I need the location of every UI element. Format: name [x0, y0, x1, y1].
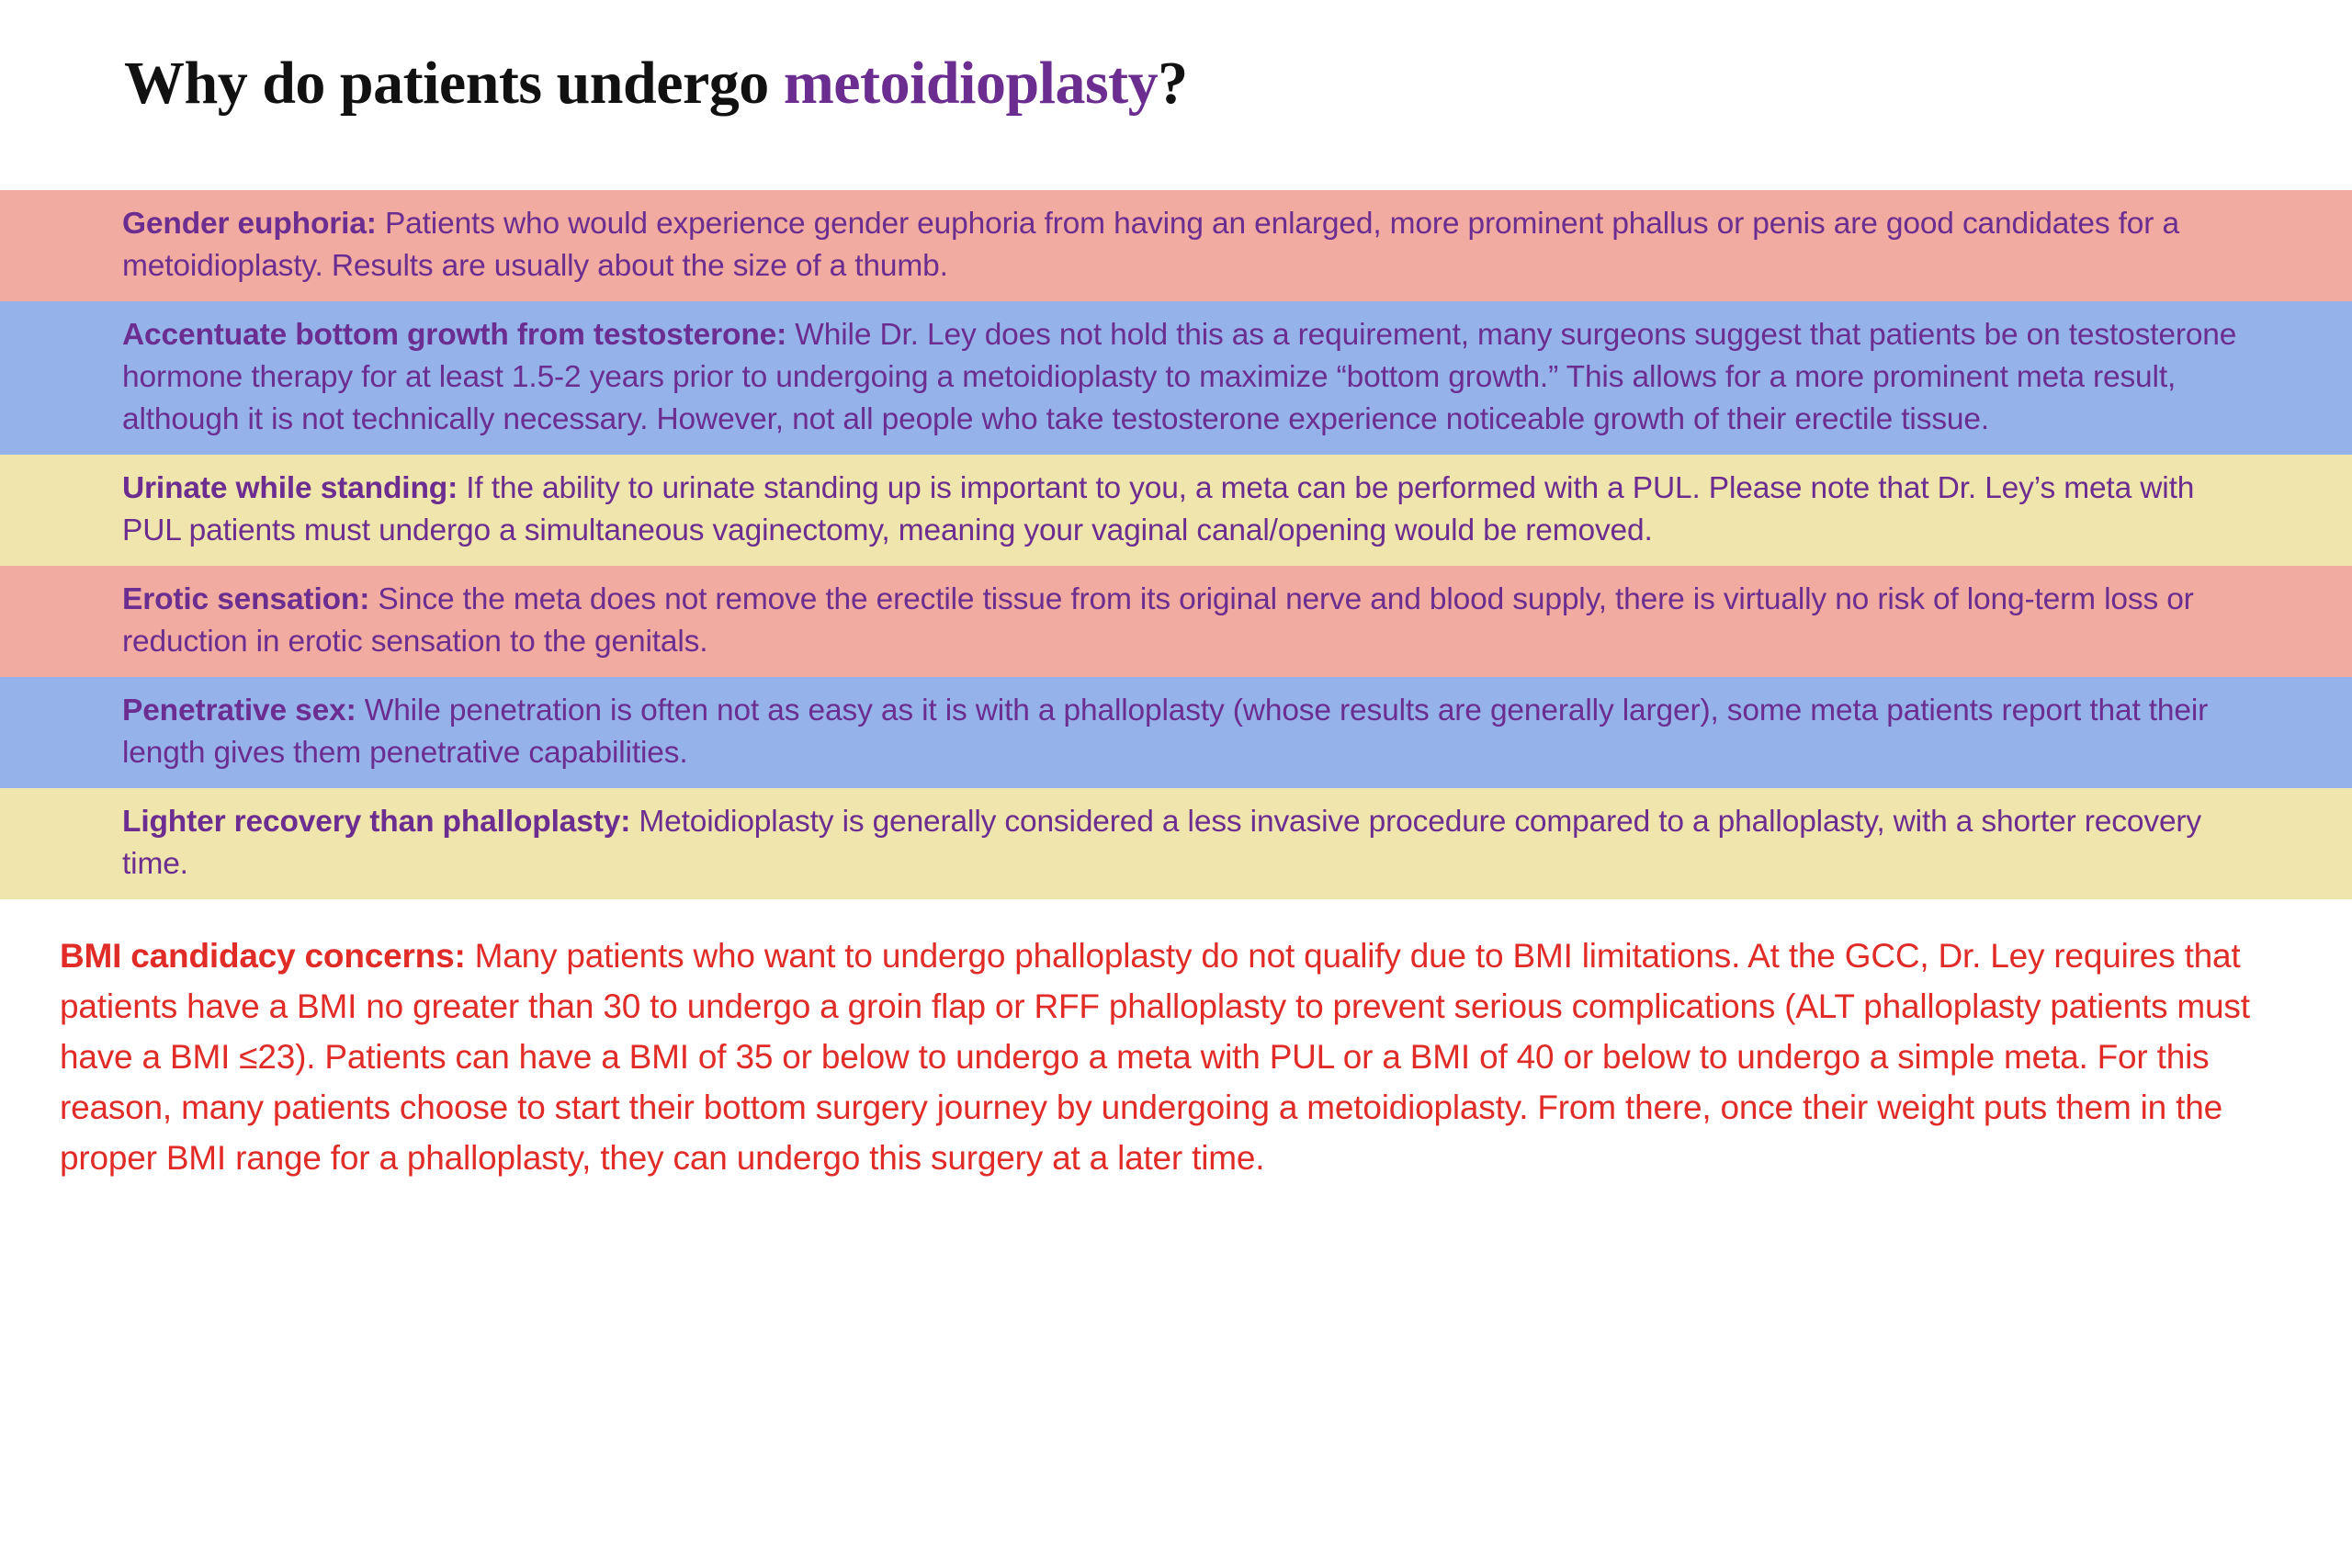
reason-band-bottom-growth: Accentuate bottom growth from testostero…: [0, 301, 2352, 455]
page-title-before: Why do patients undergo: [124, 50, 784, 117]
bmi-candidacy-note: BMI candidacy concerns: Many patients wh…: [0, 899, 2352, 1183]
reason-lead: Urinate while standing:: [122, 471, 458, 505]
reason-lead: Lighter recovery than phalloplasty:: [122, 805, 630, 839]
reason-lead: Gender euphoria:: [122, 207, 377, 241]
page-title-after: ?: [1158, 50, 1188, 117]
page-title: Why do patients undergo metoidioplasty?: [124, 53, 2352, 114]
reason-lead: Penetrative sex:: [122, 694, 356, 728]
reason-band-penetrative-sex: Penetrative sex: While penetration is of…: [0, 677, 2352, 788]
title-section: Why do patients undergo metoidioplasty?: [0, 0, 2352, 190]
reason-text: Erotic sensation: Since the meta does no…: [122, 579, 2249, 663]
reason-band-lighter-recovery: Lighter recovery than phalloplasty: Meto…: [0, 788, 2352, 899]
reason-band-erotic-sensation: Erotic sensation: Since the meta does no…: [0, 566, 2352, 677]
reason-lead: Accentuate bottom growth from testostero…: [122, 318, 786, 352]
reason-body: Patients who would experience gender eup…: [122, 207, 2179, 283]
reason-text: Accentuate bottom growth from testostero…: [122, 314, 2249, 441]
reason-band-gender-euphoria: Gender euphoria: Patients who would expe…: [0, 190, 2352, 301]
reason-bands: Gender euphoria: Patients who would expe…: [0, 190, 2352, 899]
page-title-accent: metoidioplasty: [784, 50, 1158, 117]
reason-band-urinate-standing: Urinate while standing: If the ability t…: [0, 455, 2352, 566]
reason-body: While penetration is often not as easy a…: [122, 694, 2208, 770]
bmi-note-text: BMI candidacy concerns: Many patients wh…: [60, 931, 2269, 1183]
reason-body: Since the meta does not remove the erect…: [122, 582, 2194, 659]
reason-text: Penetrative sex: While penetration is of…: [122, 690, 2249, 774]
reason-lead: Erotic sensation:: [122, 582, 369, 616]
reason-text: Lighter recovery than phalloplasty: Meto…: [122, 801, 2249, 886]
bmi-note-lead: BMI candidacy concerns:: [60, 937, 466, 975]
reason-text: Urinate while standing: If the ability t…: [122, 468, 2249, 552]
reason-text: Gender euphoria: Patients who would expe…: [122, 203, 2249, 288]
